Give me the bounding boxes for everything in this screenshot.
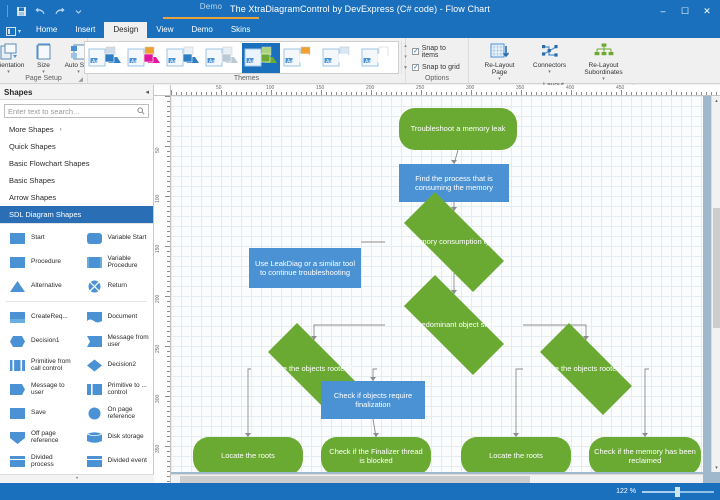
shape-item-primitive-from-call-control[interactable]: Primitive from call control [0,358,77,373]
shape-item-label: Alternative [31,282,62,290]
relayout-page-label: Re-Layout Page [478,62,522,76]
shape-item-label: Disk storage [108,433,144,441]
ruler-tick [341,92,342,95]
ruler-tick [167,291,170,292]
ruler-tick [256,92,257,95]
ruler-tick [531,92,532,95]
diagram-node[interactable]: Troubleshoot a memory leak [399,108,517,150]
shape-item-variable-procedure[interactable]: Variable Procedure [77,255,154,270]
ruler-tick [516,92,517,95]
diagram-node[interactable]: Are the objects rooted? [523,340,649,398]
chevron-down-icon: ▾ [548,70,551,74]
maximize-icon[interactable]: ☐ [674,1,696,21]
ruler-tick [456,92,457,95]
shape-item-off-page-reference[interactable]: Off page reference [0,430,77,445]
tab-skins[interactable]: Skins [222,22,260,38]
ruler-tick [167,341,170,342]
application-menu-button[interactable]: ▾ [4,27,27,38]
ruler-tick [436,92,437,95]
theme-light[interactable]: Aa [320,43,358,73]
ruler-tick [311,92,312,95]
ruler-tick [496,92,497,95]
shape-item-on-page-reference[interactable]: On page reference [77,406,154,421]
size-label: Size [37,62,50,69]
orientation-button[interactable]: Orientation ▾ [0,41,25,74]
collapse-panel-icon[interactable]: ◂ [145,88,149,96]
scroll-up-icon[interactable]: ▴ [712,96,720,105]
rect-icon [8,231,27,246]
ruler-tick [167,411,170,412]
ruler-tick [351,92,352,95]
ruler-tick [167,461,170,462]
snap-to-grid-label: Snap to grid [422,64,460,71]
ruler-label: 50 [216,85,222,91]
ruler-tick [576,92,577,95]
chevron-right-icon: › [60,127,62,133]
ruler-tick [646,92,647,95]
ruler-tick [167,386,170,387]
connectors-icon [540,41,560,61]
zoom-slider[interactable] [642,487,714,497]
disk-storage-icon [85,430,104,445]
ruler-label: 150 [316,85,324,91]
connector-line [454,150,458,164]
contextual-tab-group-underline [163,17,259,19]
ruler-tick [466,92,467,95]
shape-item-grid: StartVariable StartProcedureVariable Pro… [0,224,153,497]
ruler-tick [511,92,512,95]
shapes-search-wrapper: Enter text to search... [0,100,153,121]
ruler-tick [167,476,170,477]
ruler-tick [167,191,170,192]
save-shape-icon [8,406,27,421]
shapes-panel-title: Shapes [4,88,32,97]
close-icon[interactable]: ✕ [696,1,718,21]
shape-item-primitive-to-control[interactable]: Primitive to ... control [77,382,154,397]
ruler-tick [167,186,170,187]
ruler-tick [167,266,170,267]
search-placeholder: Enter text to search... [8,107,79,116]
shapes-panel-header: Shapes ◂ [0,85,153,100]
search-icon[interactable] [137,102,145,120]
procedure-icon [8,255,27,270]
panel-resize-handle[interactable]: • [76,476,78,482]
shape-category-arrow-shapes[interactable]: Arrow Shapes [0,189,153,206]
shape-category-more-shapes[interactable]: More Shapes› [0,121,153,138]
ruler-tick [676,92,677,95]
connector-line [516,369,523,437]
app-menu-icon [6,27,16,36]
svg-text:Aa: Aa [248,59,254,65]
ruler-tick [696,92,697,95]
ruler-tick [651,92,652,95]
ruler-tick [411,92,412,95]
vertical-scrollbar-thumb[interactable] [713,208,720,328]
ruler-tick [251,92,252,95]
ruler-tick [167,141,170,142]
ruler-label: 100 [266,85,274,91]
snap-to-items-checkbox[interactable]: Snap to items [412,45,462,59]
shape-category-sdl-diagram-shapes[interactable]: SDL Diagram Shapes [0,206,153,223]
ruler-tick [167,261,170,262]
ruler-corner [154,85,171,96]
diagram-page[interactable]: Troubleshoot a memory leakFind the proce… [171,96,703,472]
ribbon: Orientation ▾ Size ▾ [0,38,720,84]
ruler-tick [181,92,182,95]
document-icon [85,310,104,325]
ruler-tick [167,256,170,257]
horizontal-scrollbar[interactable] [171,474,703,483]
ribbon-group-page-setup: Orientation ▾ Size ▾ [0,38,88,83]
ruler-label: 250 [155,345,161,353]
ruler-tick [167,321,170,322]
ruler-tick [666,92,667,95]
vertical-scrollbar[interactable]: ▴ ▾ [711,96,720,472]
theme-green[interactable]: Aa [242,43,280,73]
ruler-tick [601,92,602,95]
window-controls: – ☐ ✕ [652,0,718,22]
ruler-tick [306,92,307,95]
ruler-tick [656,92,657,95]
rounded-rect-icon [85,231,104,246]
ruler-tick [711,92,712,95]
ruler-label: 200 [155,295,161,303]
ruler-tick [167,441,170,442]
shape-item-return[interactable]: Return [77,279,154,294]
relayout-subordinates-button[interactable]: Re-Layout Subordinates ▾ [578,41,630,81]
tab-home[interactable]: Home [27,22,66,38]
shape-category-quick-shapes[interactable]: Quick Shapes [0,138,153,155]
diagram-node[interactable]: Use LeakDiag or a similar tool to contin… [249,248,361,288]
ruler-tick [165,146,170,147]
tab-demo[interactable]: Demo [182,22,221,38]
options-checkbox-column: Snap to items Snap to grid [408,41,466,74]
connectors-button[interactable]: Connectors ▾ [528,41,572,74]
ruler-tick [196,92,197,95]
ruler-tick [167,236,170,237]
shape-row: Decision1Message from user [0,329,153,353]
ruler-tick [167,366,170,367]
shape-item-start[interactable]: Start [0,231,77,246]
shape-item-createreq[interactable]: CreateReq... [0,310,77,325]
ruler-tick [216,92,217,95]
themes-gallery-items: AaAaAaAaAaAaAaAa [86,43,397,73]
relayout-page-button[interactable]: Re-Layout Page ▾ [478,41,522,81]
shape-item-save[interactable]: Save [0,406,77,421]
shape-item-alternative[interactable]: Alternative [0,279,77,294]
shape-category-label: More Shapes [9,125,54,134]
ruler-tick [167,426,170,427]
shape-group-divider [6,301,147,302]
ruler-tick [596,92,597,95]
chevron-down-icon: ▾ [18,28,21,35]
ruler-tick [167,211,170,212]
svg-text:Aa: Aa [209,59,215,65]
shape-category-label: Arrow Shapes [9,193,56,202]
ruler-tick [167,451,170,452]
orientation-icon [0,41,18,61]
connectors-label: Connectors [533,62,566,69]
shape-category-list: More Shapes›Quick ShapesBasic Flowchart … [0,121,153,224]
ruler-tick [191,92,192,95]
shape-item-message-to-user[interactable]: Message to user [0,382,77,397]
ruler-tick [167,221,170,222]
themes-title-text: Themes [234,75,259,82]
ruler-tick [641,92,642,95]
shape-item-label: Start [31,234,45,242]
ruler-tick [167,101,170,102]
ruler-tick [541,92,542,95]
ruler-tick [167,431,170,432]
ruler-tick [366,92,367,95]
relayout-subordinates-icon [593,41,615,61]
ruler-tick [431,92,432,95]
orientation-label: Orientation [0,62,24,69]
search-input[interactable]: Enter text to search... [4,104,149,118]
checkbox-icon [412,64,419,71]
snap-to-items-label: Snap to items [422,45,462,59]
svg-text:Aa: Aa [365,59,371,65]
ribbon-tab-strip: ▾ HomeInsertDesignViewDemoSkins [0,22,720,38]
ruler-label: 150 [155,245,161,253]
ruler-tick [167,176,170,177]
ruler-tick [461,92,462,95]
shape-item-label: CreateReq... [31,313,68,321]
diagram-node[interactable]: Locate the roots [461,437,571,472]
ruler-tick [167,106,170,107]
ruler-tick [167,361,170,362]
shape-item-divided-event[interactable]: Divided event [77,454,154,469]
ruler-tick [236,92,237,95]
horizontal-ruler: 50100150200250300350400450 [171,85,720,96]
minimize-icon[interactable]: – [652,1,674,21]
ruler-tick [611,92,612,95]
shape-item-label: Save [31,409,46,417]
size-button[interactable]: Size ▾ [27,41,60,74]
ruler-tick [167,401,170,402]
title-bar: Demo The XtraDiagramControl by DevExpres… [0,0,720,22]
ruler-tick [671,90,672,95]
ruler-tick [291,92,292,95]
ruler-tick [165,396,170,397]
diagram-node[interactable]: Check if objects require finalization [321,381,425,419]
diagram-node[interactable]: Check if the Finalizer thread is blocked [321,437,431,472]
ribbon-group-title: Page Setup ◢ [2,74,85,84]
ruler-tick [266,92,267,95]
connector-line [373,419,376,437]
ruler-tick [661,92,662,95]
theme-outline[interactable]: Aa [281,43,319,73]
divided-event-icon [85,454,104,469]
shape-item-label: Variable Procedure [108,255,154,270]
shape-row: SaveOn page reference [0,401,153,425]
theme-grayscale[interactable]: Aa [203,43,241,73]
ruler-tick [476,92,477,95]
shape-item-label: Message to user [31,382,77,397]
ruler-tick [167,286,170,287]
ruler-tick [167,251,170,252]
ruler-tick [281,92,282,95]
shape-category-basic-shapes[interactable]: Basic Shapes [0,172,153,189]
shape-category-label: Quick Shapes [9,142,56,151]
ruler-tick [501,92,502,95]
ruler-tick [451,92,452,95]
ruler-label: 350 [155,445,161,453]
ruler-tick [167,421,170,422]
ruler-label: 200 [366,85,374,91]
scroll-down-icon[interactable]: ▾ [712,463,720,472]
theme-blue[interactable]: Aa [164,43,202,73]
ruler-tick [626,92,627,95]
shape-item-decision1[interactable]: Decision1 [0,334,77,349]
application-window: Demo The XtraDiagramControl by DevExpres… [0,0,720,500]
horizontal-scrollbar-thumb[interactable] [180,476,530,483]
ruler-tick [167,306,170,307]
ruler-tick [686,92,687,95]
ruler-tick [276,92,277,95]
ruler-tick [246,92,247,95]
ruler-tick [167,281,170,282]
shape-item-label: Decision2 [108,361,137,369]
shape-row: Message to userPrimitive to ... control [0,377,153,401]
ruler-tick [586,92,587,95]
ruler-tick [167,436,170,437]
shape-item-label: Variable Start [108,234,147,242]
shape-item-procedure[interactable]: Procedure [0,255,77,270]
message-from-user-icon [85,334,104,349]
ruler-tick [561,92,562,95]
ruler-tick [336,92,337,95]
ruler-tick [167,171,170,172]
zoom-slider-knob[interactable] [675,487,680,497]
ruler-tick [361,92,362,95]
ruler-tick [391,92,392,95]
svg-text:Aa: Aa [92,59,98,65]
ruler-tick [546,92,547,95]
theme-office[interactable]: Aa [86,43,124,73]
tab-design[interactable]: Design [104,22,147,38]
ruler-tick [556,92,557,95]
size-icon [35,41,53,61]
ruler-tick [706,92,707,95]
ruler-tick [167,416,170,417]
on-page-reference-icon [85,406,104,421]
tab-view[interactable]: View [147,22,182,38]
ruler-tick [441,92,442,95]
shape-item-label: Decision1 [31,337,60,345]
theme-blackwhite[interactable]: Aa [359,43,397,73]
ruler-tick [226,92,227,95]
diagram-node[interactable]: Locate the roots [193,437,303,472]
svg-text:Aa: Aa [326,59,332,65]
ruler-tick [167,311,170,312]
ruler-label: 100 [155,195,161,203]
ruler-tick [167,391,170,392]
ruler-tick [346,92,347,95]
ruler-tick [376,92,377,95]
diagram-node[interactable]: Predominant object size [385,294,523,356]
divided-process-icon [8,454,27,469]
ruler-tick [167,331,170,332]
shape-item-label: Divided process [31,454,77,469]
ruler-tick [167,316,170,317]
ruler-tick [167,136,170,137]
ruler-tick [171,90,172,95]
ruler-tick [551,92,552,95]
ruler-tick [167,271,170,272]
shape-item-divided-process[interactable]: Divided process [0,454,77,469]
shape-category-basic-flowchart-shapes[interactable]: Basic Flowchart Shapes [0,155,153,172]
ruler-tick [167,241,170,242]
ruler-tick [165,346,170,347]
svg-text:Aa: Aa [170,59,176,65]
ruler-label: 250 [416,85,424,91]
ruler-tick [691,92,692,95]
ruler-tick [167,231,170,232]
shape-item-decision2[interactable]: Decision2 [77,358,154,373]
diagram-node-label: Are the objects rooted? [547,364,625,374]
snap-to-grid-checkbox[interactable]: Snap to grid [412,64,462,71]
ruler-tick [241,92,242,95]
shape-item-document[interactable]: Document [77,310,154,325]
shape-item-message-from-user[interactable]: Message from user [77,334,154,349]
ruler-label: 450 [616,85,624,91]
ruler-tick [167,336,170,337]
tab-insert[interactable]: Insert [66,22,104,38]
ruler-tick [167,201,170,202]
ruler-tick [186,92,187,95]
ruler-tick [167,151,170,152]
diagram-node-label: Find the process that is consuming the m… [404,174,504,193]
shape-item-variable-start[interactable]: Variable Start [77,231,154,246]
ruler-tick [636,92,637,95]
ruler-tick [167,156,170,157]
ruler-tick [167,226,170,227]
shape-row: Divided processDivided event [0,449,153,473]
zoom-level-label: 122 % [616,488,636,495]
ruler-tick [167,111,170,112]
diagram-node-label: Check if the Finalizer thread is blocked [326,447,426,466]
ruler-tick [326,92,327,95]
ribbon-group-layout: Re-Layout Page ▾ [469,38,638,83]
ribbon-group-themes: AaAaAaAaAaAaAaAa ▴ ▾ ▼ Themes [88,38,406,83]
ruler-tick [231,92,232,95]
diagram-node[interactable]: Check if the memory has been reclaimed [589,437,701,472]
shape-item-label: Document [108,313,138,321]
shape-category-label: Basic Flowchart Shapes [9,159,89,168]
diagram-node[interactable]: Memory consumption type [385,211,523,273]
ruler-tick [206,92,207,95]
ruler-tick [167,456,170,457]
diagram-node-label: Memory consumption type [410,237,498,247]
relayout-subordinates-label: Re-Layout Subordinates [578,62,630,76]
diagram-node[interactable]: Find the process that is consuming the m… [399,164,509,202]
shape-item-disk-storage[interactable]: Disk storage [77,430,154,445]
connector-line [314,325,385,340]
themes-gallery[interactable]: AaAaAaAaAaAaAaAa [84,41,399,74]
ruler-tick [167,481,170,482]
ruler-tick [716,92,717,95]
ruler-tick [426,92,427,95]
primitive-from-call-control-icon [8,358,27,373]
ruler-tick [381,92,382,95]
shape-category-label: SDL Diagram Shapes [9,210,81,219]
theme-colorful[interactable]: Aa [125,43,163,73]
ruler-tick [566,92,567,95]
dialog-launcher-icon[interactable]: ◢ [78,75,83,85]
ruler-tick [165,196,170,197]
ruler-tick [261,92,262,95]
